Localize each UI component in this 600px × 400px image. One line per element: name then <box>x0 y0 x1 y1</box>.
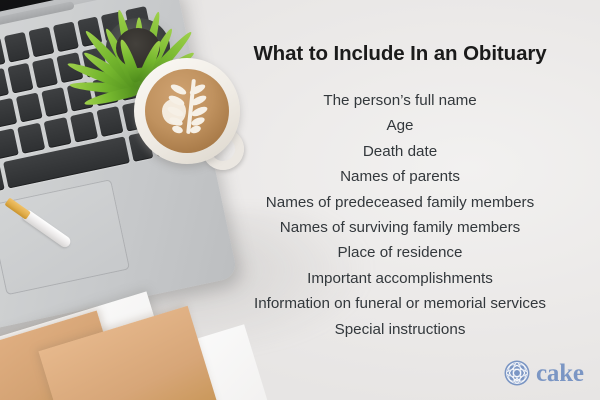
text-content-panel: What to Include In an Obituary The perso… <box>200 0 600 400</box>
keyboard-key <box>7 63 34 94</box>
keyboard-key <box>70 112 98 143</box>
list-item: Special instructions <box>200 317 600 342</box>
keyboard-key <box>0 68 9 99</box>
list-item: Place of residence <box>200 240 600 265</box>
list-item: Death date <box>200 139 600 164</box>
keyboard-key <box>16 92 43 123</box>
keyboard-key <box>4 32 30 63</box>
keyboard-key <box>43 118 71 149</box>
keyboard-key <box>0 97 17 128</box>
keyboard-key <box>0 129 19 160</box>
keyboard-key <box>96 106 124 137</box>
cake-logo[interactable]: cake <box>504 360 584 386</box>
cake-wordmark: cake <box>536 361 584 386</box>
list-item: Important accomplishments <box>200 266 600 291</box>
cake-circular-lattice-logo-icon <box>504 360 530 386</box>
list-item: Information on funeral or memorial servi… <box>200 291 600 316</box>
keyboard-key <box>32 57 59 88</box>
list-item: Age <box>200 113 600 138</box>
list-item: Names of parents <box>200 164 600 189</box>
list-item: The person’s full name <box>200 88 600 113</box>
keyboard-key <box>28 27 54 58</box>
latte-art-frond <box>171 124 184 134</box>
keyboard-key <box>17 123 45 154</box>
latte-art-frond <box>170 82 188 96</box>
obituary-items-list: The person’s full name Age Death date Na… <box>200 88 600 342</box>
obituary-infographic-canvas: What to Include In an Obituary The perso… <box>0 0 600 400</box>
keyboard-key <box>41 87 68 118</box>
list-item: Names of surviving family members <box>200 215 600 240</box>
page-title: What to Include In an Obituary <box>200 42 600 66</box>
list-item: Names of predeceased family members <box>200 190 600 215</box>
